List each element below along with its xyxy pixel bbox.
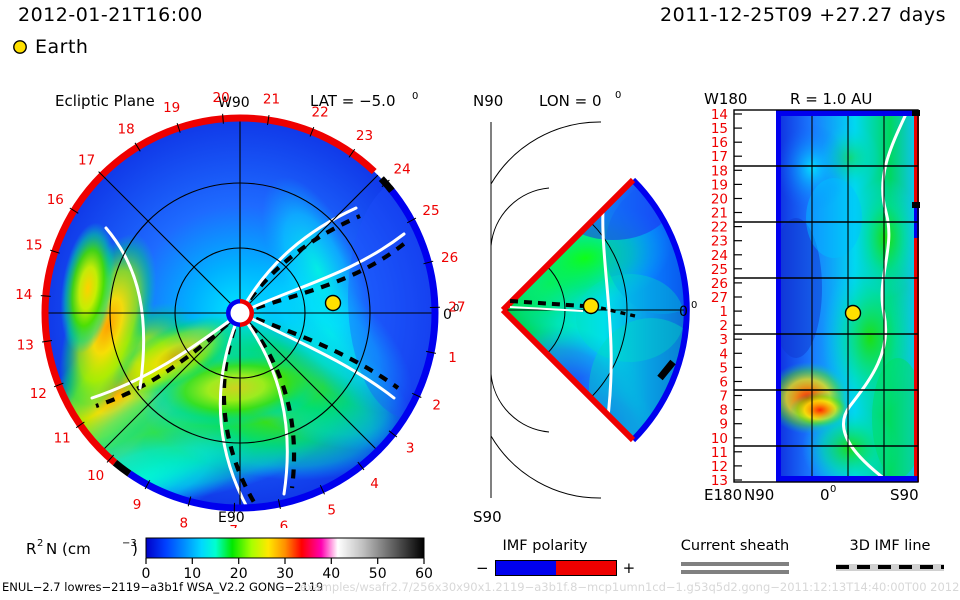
meridional-field-map (455, 122, 700, 502)
au-map-bottom-polarity (778, 476, 918, 482)
legend-current-sheath: Current sheath (655, 538, 815, 574)
ecliptic-panel-title: Ecliptic Plane (55, 92, 155, 110)
ecliptic-tick-7: 7 (229, 523, 238, 528)
ecliptic-tick-13: 13 (17, 338, 34, 354)
panel-ecliptic-plane: Ecliptic Plane LAT = −5.0 0 W90 E90 0 0 … (0, 88, 470, 528)
au-map-label-w180: W180 (704, 90, 747, 108)
ecliptic-tick-22: 22 (312, 104, 329, 120)
au-map-y-tick-labels: 1415161718192021222324252627123456789101… (711, 107, 742, 489)
ecliptic-tick-17: 17 (78, 153, 95, 169)
au-map-title: R = 1.0 AU (790, 90, 872, 108)
au-map-field (734, 110, 924, 490)
ecliptic-tick-20: 20 (213, 90, 230, 106)
ecliptic-tick-10: 10 (87, 468, 104, 484)
meridional-zero-degree-sup: 0 (691, 300, 697, 311)
header-datetime-left: 2012-01-21T16:00 (18, 4, 203, 26)
panel-au-map: W180 R = 1.0 AU E180 1415161718192021222… (700, 88, 960, 528)
colorbar-label-r: R (26, 540, 36, 558)
legend-polarity-positive-swatch (556, 560, 617, 576)
legend-current-sheath-title: Current sheath (655, 538, 815, 554)
visualization-root: 2012-01-21T16:00 2011-12-25T09 +27.27 da… (0, 0, 960, 600)
legend-polarity-minus: − (476, 559, 489, 577)
colorbar-gradient (146, 538, 424, 558)
ecliptic-tick-9: 9 (133, 497, 142, 513)
earth-marker-meridional (584, 299, 599, 314)
au-map-xtick-degree-sup: 0 (830, 484, 836, 495)
meridional-title: LON = 0 (539, 92, 602, 110)
ecliptic-tick-15: 15 (25, 238, 42, 254)
ecliptic-tick-5: 5 (327, 503, 336, 519)
legend-imf-polarity-title: IMF polarity (470, 538, 620, 554)
sun-marker (226, 299, 254, 327)
colorbar-label-sup: 2 (37, 538, 43, 549)
ecliptic-tick-16: 16 (47, 192, 64, 208)
footer-model-info: ENUL−2.7 lowres−2119−a3b1f WSA_V2.2 GONG… (2, 580, 323, 594)
au-map-xtick-zero: 0 (820, 486, 830, 504)
ecliptic-tick-4: 4 (370, 476, 379, 492)
footer-watermark: examples/wsafr2.7/256x30x90x1.2119−a3b1f… (300, 580, 960, 594)
legend-polarity-plus: + (623, 559, 636, 577)
colorbar-label-end: ) (132, 540, 138, 558)
ecliptic-tick-21: 21 (263, 91, 280, 107)
ecliptic-tick-3: 3 (406, 441, 415, 457)
earth-legend-label: Earth (35, 36, 88, 58)
earth-icon (12, 39, 28, 55)
ecliptic-tick-12: 12 (30, 386, 47, 402)
legend-imf-polarity: IMF polarity − + (470, 538, 635, 577)
ecliptic-tick-11: 11 (54, 431, 71, 447)
header-datetime-right: 2011-12-25T09 +27.27 days (660, 4, 946, 26)
meridional-label-s90: S90 (473, 508, 502, 526)
au-map-tick-13: 13 (711, 473, 728, 489)
colorbar-tick-labels: 0102030405060 (142, 558, 433, 582)
ecliptic-tick-23: 23 (356, 128, 373, 144)
meridional-label-zero: 0 (679, 304, 688, 320)
ecliptic-tick-19: 19 (163, 100, 180, 116)
legend-current-sheath-swatch (681, 562, 815, 574)
ecliptic-field-map (0, 118, 468, 528)
colorbar-label-rest: N (cm (46, 540, 91, 558)
earth-marker-ecliptic (326, 296, 341, 311)
panel-meridional: N90 LON = 0 0 S90 0 0 (455, 88, 700, 528)
legend-3d-imf-title: 3D IMF line (830, 538, 950, 554)
colorbar-group: R 2 N (cm −3 ) (14, 532, 434, 586)
ecliptic-tick-18: 18 (118, 121, 135, 137)
ecliptic-tick-24: 24 (394, 162, 411, 178)
ecliptic-lat-degree-sup: 0 (412, 91, 418, 102)
ecliptic-tick-14: 14 (15, 287, 32, 303)
legend-3d-imf-line: 3D IMF line (830, 538, 950, 572)
earth-marker-au-map (846, 306, 861, 321)
meridional-label-n90: N90 (473, 92, 503, 110)
earth-legend: Earth (12, 36, 88, 58)
au-map-transition-a (912, 110, 920, 116)
au-map-xtick-n90: N90 (744, 486, 774, 504)
ecliptic-tick-6: 6 (280, 519, 289, 529)
au-map-transition-b (912, 202, 920, 208)
ecliptic-tick-2: 2 (432, 398, 441, 414)
legend-3d-imf-swatch (836, 562, 944, 572)
au-map-xtick-s90: S90 (890, 486, 919, 504)
ecliptic-tick-8: 8 (180, 516, 189, 528)
au-map-top-polarity (778, 110, 918, 116)
legend-polarity-negative-swatch (495, 560, 556, 576)
meridional-title-degree-sup: 0 (615, 90, 621, 101)
ecliptic-tick-25: 25 (422, 203, 439, 219)
